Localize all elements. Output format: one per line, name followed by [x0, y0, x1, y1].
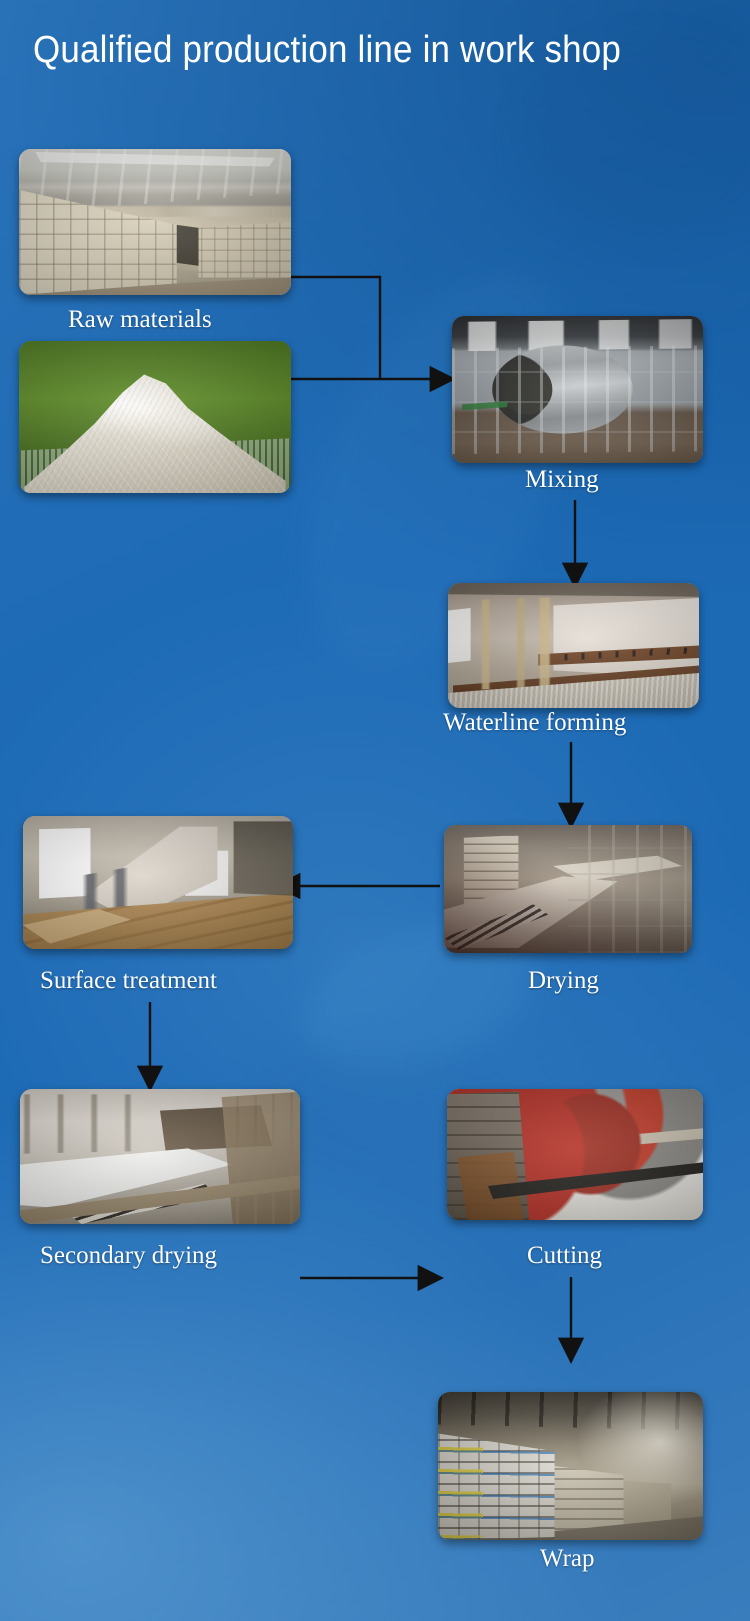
step-photo-secondary-drying[interactable]: [20, 1089, 300, 1224]
caption-waterline-forming: Waterline forming: [443, 708, 626, 738]
photo-vignette: [19, 341, 291, 493]
caption-secondary-drying: Secondary drying: [40, 1241, 217, 1271]
caption-wrap: Wrap: [540, 1544, 595, 1574]
page-title: Qualified production line in work shop: [33, 28, 621, 72]
step-photo-surface-treatment[interactable]: [23, 816, 293, 949]
step-photo-mixing[interactable]: [452, 316, 703, 463]
photo-vignette: [452, 316, 703, 463]
step-photo-waterline-forming[interactable]: [448, 583, 699, 708]
photo-vignette: [444, 825, 692, 953]
step-photo-wrap[interactable]: [438, 1392, 703, 1540]
caption-raw-materials: Raw materials: [68, 305, 212, 335]
caption-drying: Drying: [528, 966, 599, 996]
step-photo-raw-materials-powder[interactable]: [19, 341, 291, 493]
photo-vignette: [438, 1392, 703, 1540]
photo-vignette: [19, 149, 291, 295]
photo-vignette: [23, 816, 293, 949]
photo-vignette: [448, 583, 699, 708]
photo-vignette: [20, 1089, 300, 1224]
step-photo-raw-materials-warehouse[interactable]: [19, 149, 291, 295]
caption-cutting: Cutting: [527, 1241, 602, 1271]
caption-mixing: Mixing: [525, 465, 599, 495]
step-photo-cutting[interactable]: [447, 1089, 703, 1220]
caption-surface-treatment: Surface treatment: [40, 966, 217, 996]
photo-vignette: [447, 1089, 703, 1220]
step-photo-drying[interactable]: [444, 825, 692, 953]
